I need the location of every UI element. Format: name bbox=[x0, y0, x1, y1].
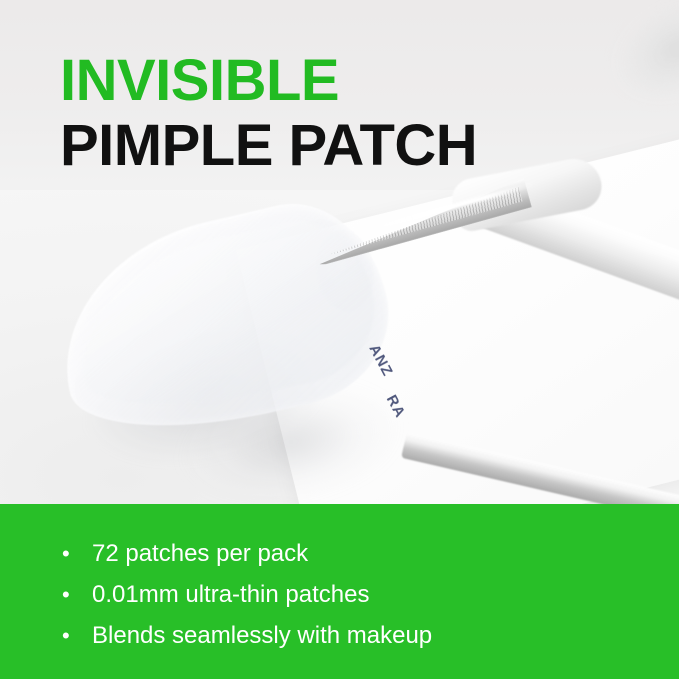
feature-text: Blends seamlessly with makeup bbox=[92, 622, 432, 650]
product-feature-poster: ANZ RA INVISIBLE PIMPLE PATCH • 72 patch… bbox=[0, 0, 679, 679]
feature-banner: • 72 patches per pack • 0.01mm ultra-thi… bbox=[0, 504, 679, 679]
list-item: • 0.01mm ultra-thin patches bbox=[62, 581, 432, 622]
headline-line-invisible: INVISIBLE bbox=[60, 52, 477, 110]
feature-list: • 72 patches per pack • 0.01mm ultra-thi… bbox=[62, 540, 432, 663]
bullet-icon: • bbox=[62, 625, 92, 647]
feature-text: 0.01mm ultra-thin patches bbox=[92, 581, 369, 609]
list-item: • Blends seamlessly with makeup bbox=[62, 622, 432, 663]
feature-text: 72 patches per pack bbox=[92, 540, 308, 568]
headline-line-pimple-patch: PIMPLE PATCH bbox=[60, 117, 477, 175]
page-title: INVISIBLE PIMPLE PATCH bbox=[60, 52, 477, 175]
bullet-icon: • bbox=[62, 584, 92, 606]
list-item: • 72 patches per pack bbox=[62, 540, 432, 581]
bullet-icon: • bbox=[62, 543, 92, 565]
